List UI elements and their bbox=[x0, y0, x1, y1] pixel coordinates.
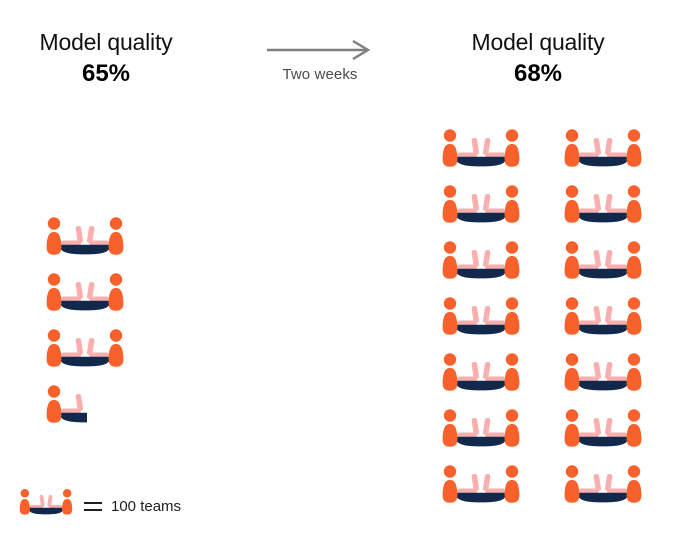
team-icon-cell bbox=[440, 184, 522, 229]
team-meeting-icon bbox=[440, 464, 522, 509]
pictogram-row bbox=[44, 272, 126, 317]
equals-icon bbox=[84, 502, 102, 511]
left-panel-heading: Model quality 65% bbox=[8, 28, 204, 89]
team-icon-cell bbox=[562, 240, 644, 285]
team-meeting-icon bbox=[562, 240, 644, 285]
legend-label: 100 teams bbox=[111, 498, 181, 515]
team-icon-cell bbox=[44, 216, 126, 261]
team-icon-cell bbox=[440, 240, 522, 285]
team-icon-cell bbox=[562, 408, 644, 453]
pictogram-row bbox=[44, 216, 126, 261]
team-meeting-icon bbox=[44, 328, 126, 373]
team-icon-cell bbox=[44, 272, 126, 317]
team-meeting-icon bbox=[562, 352, 644, 397]
transition-label: Two weeks bbox=[258, 66, 382, 83]
transition-group: Two weeks bbox=[258, 40, 382, 83]
team-icon-cell bbox=[440, 352, 522, 397]
team-icon-cell bbox=[562, 184, 644, 229]
left-panel-title: Model quality bbox=[8, 28, 204, 57]
team-icon-cell bbox=[562, 296, 644, 341]
team-icon-cell bbox=[562, 464, 644, 509]
right-panel-value: 68% bbox=[440, 59, 636, 89]
left-panel-value: 65% bbox=[8, 59, 204, 89]
team-icon-cell bbox=[440, 408, 522, 453]
pictogram-row bbox=[440, 296, 644, 341]
arrow-right-icon bbox=[258, 40, 382, 64]
team-meeting-icon bbox=[440, 408, 522, 453]
right-panel-title: Model quality bbox=[440, 28, 636, 57]
pictogram-row bbox=[440, 128, 644, 173]
team-meeting-icon bbox=[562, 128, 644, 173]
team-icon-cell bbox=[44, 328, 126, 373]
pictogram-row bbox=[440, 464, 644, 509]
team-icon-cell bbox=[440, 128, 522, 173]
team-meeting-icon bbox=[562, 296, 644, 341]
team-meeting-icon-partial bbox=[44, 384, 87, 429]
team-meeting-icon bbox=[562, 464, 644, 509]
team-meeting-icon bbox=[440, 296, 522, 341]
legend: 100 teams bbox=[18, 488, 181, 524]
pictogram-row bbox=[44, 328, 126, 373]
pictogram-row bbox=[440, 352, 644, 397]
team-meeting-icon bbox=[440, 352, 522, 397]
team-meeting-icon bbox=[44, 216, 126, 261]
team-meeting-icon bbox=[44, 272, 126, 317]
team-icon-cell bbox=[562, 352, 644, 397]
pictogram-row bbox=[440, 240, 644, 285]
team-icon-cell bbox=[562, 128, 644, 173]
pictogram-row bbox=[440, 184, 644, 229]
team-meeting-icon bbox=[562, 184, 644, 229]
right-pictogram-grid bbox=[440, 128, 644, 520]
pictogram-row-partial bbox=[44, 384, 126, 429]
pictogram-row bbox=[440, 408, 644, 453]
team-meeting-icon bbox=[562, 408, 644, 453]
right-panel-heading: Model quality 68% bbox=[440, 28, 636, 89]
left-pictogram-grid bbox=[44, 216, 126, 440]
team-icon-cell bbox=[440, 464, 522, 509]
team-meeting-icon bbox=[440, 240, 522, 285]
team-icon-cell-partial bbox=[44, 384, 87, 429]
team-meeting-icon bbox=[440, 184, 522, 229]
team-meeting-icon bbox=[440, 128, 522, 173]
team-icon-cell bbox=[440, 296, 522, 341]
legend-team-meeting-icon bbox=[18, 488, 74, 524]
